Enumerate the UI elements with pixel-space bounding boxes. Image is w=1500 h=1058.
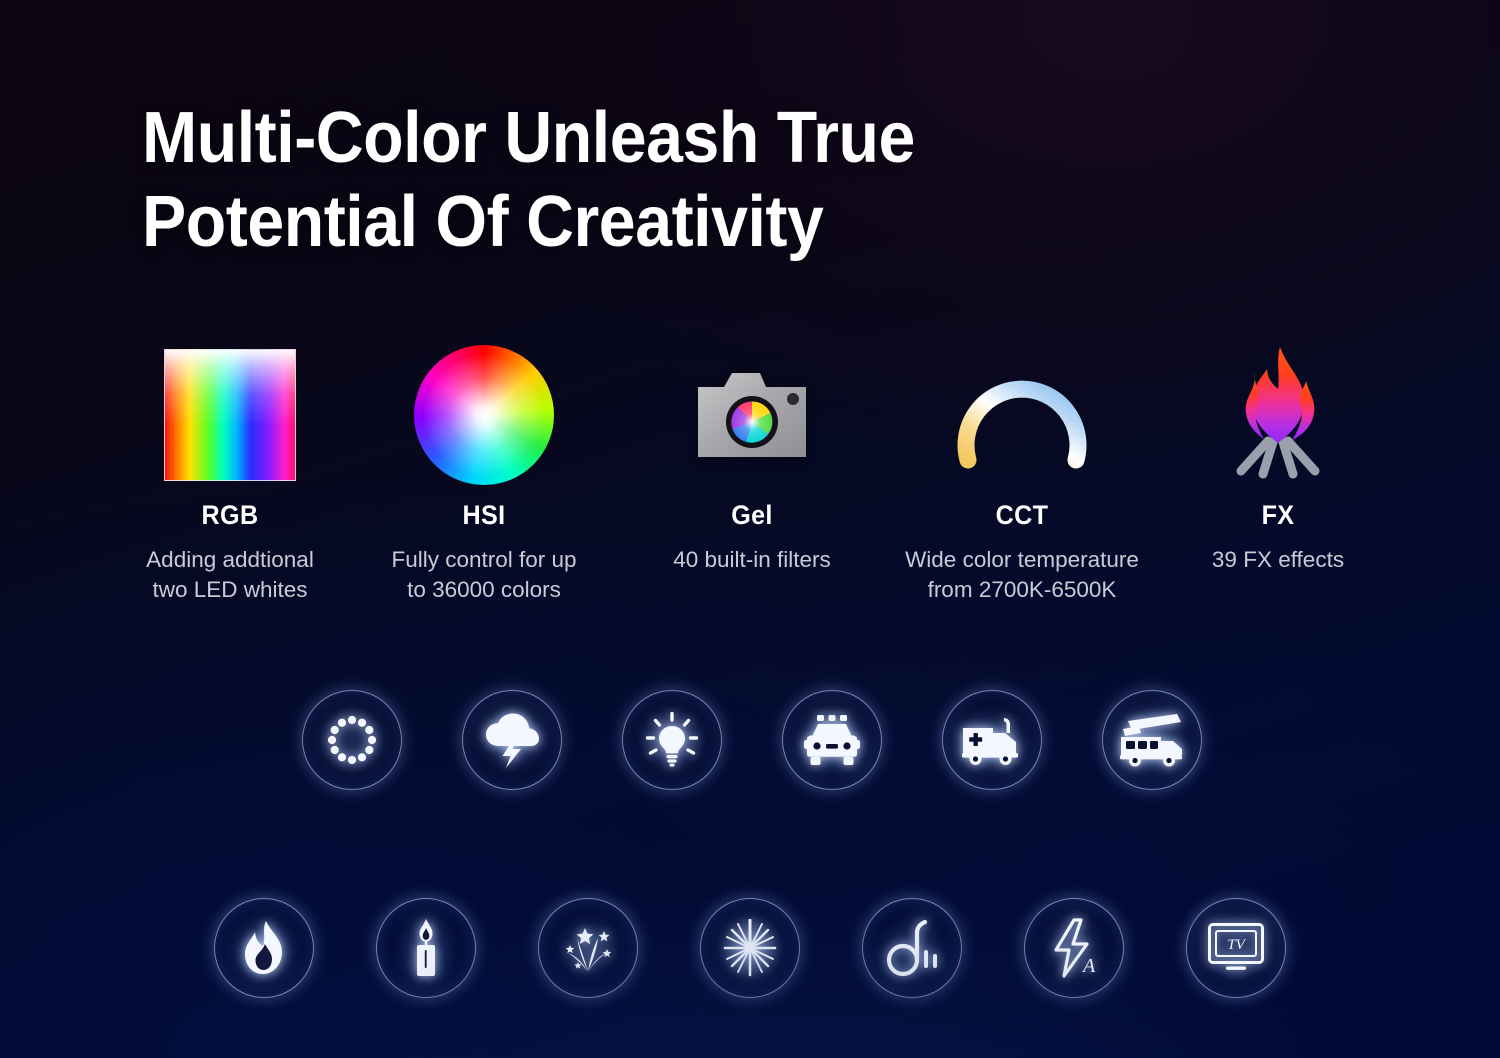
- effect-row-1: [0, 690, 1500, 790]
- candle-icon[interactable]: [376, 898, 476, 998]
- feature-list: RGB Adding addtional two LED whites HSI …: [110, 340, 1400, 604]
- welding-spark-icon[interactable]: [700, 898, 800, 998]
- feature-desc: 40 built-in filters: [618, 545, 886, 575]
- tv-screen-icon[interactable]: TV: [1186, 898, 1286, 998]
- feature-label: CCT: [896, 500, 1149, 531]
- fire-flame-icon[interactable]: [214, 898, 314, 998]
- hsi-color-wheel-icon: [350, 340, 618, 490]
- feature-desc: 39 FX effects: [1158, 545, 1398, 575]
- auto-flash-bolt-icon[interactable]: A: [1024, 898, 1124, 998]
- campfire-flame-icon: [1158, 340, 1398, 490]
- feature-desc: Wide color temperature from 2700K-6500K: [886, 545, 1158, 604]
- camera-color-filter-icon: [618, 340, 886, 490]
- svg-text:TV: TV: [1227, 937, 1246, 953]
- svg-text:A: A: [1081, 955, 1096, 977]
- feature-label: RGB: [118, 500, 341, 531]
- feature-fx: FX 39 FX effects: [1158, 340, 1398, 575]
- page-title: Multi-Color Unleash True Potential Of Cr…: [142, 96, 1172, 264]
- fireworks-icon[interactable]: [538, 898, 638, 998]
- rgb-gradient-square-icon: [110, 340, 350, 490]
- storm-cloud-lightning-icon[interactable]: [462, 690, 562, 790]
- effect-row-2: A TV: [0, 790, 1500, 890]
- feature-desc: Fully control for up to 36000 colors: [350, 545, 618, 604]
- feature-gel: Gel 40 built-in filters: [618, 340, 886, 575]
- light-bulb-icon[interactable]: [622, 690, 722, 790]
- feature-label: Gel: [627, 500, 876, 531]
- ambulance-icon[interactable]: [942, 690, 1042, 790]
- police-car-icon[interactable]: [782, 690, 882, 790]
- feature-label: FX: [1166, 500, 1389, 531]
- feature-label: HSI: [359, 500, 608, 531]
- fire-truck-icon[interactable]: [1102, 690, 1202, 790]
- feature-cct: CCT Wide color temperature from 2700K-65…: [886, 340, 1158, 604]
- paparazzi-dot-ring-icon[interactable]: [302, 690, 402, 790]
- feature-hsi: HSI Fully control for up to 36000 colors: [350, 340, 618, 604]
- feature-rgb: RGB Adding addtional two LED whites: [110, 340, 350, 604]
- color-temperature-arc-icon: [886, 340, 1158, 490]
- music-note-icon[interactable]: [862, 898, 962, 998]
- feature-desc: Adding addtional two LED whites: [110, 545, 350, 604]
- effect-icon-grid: A TV: [0, 690, 1500, 890]
- poster-stage: Multi-Color Unleash True Potential Of Cr…: [0, 0, 1500, 1058]
